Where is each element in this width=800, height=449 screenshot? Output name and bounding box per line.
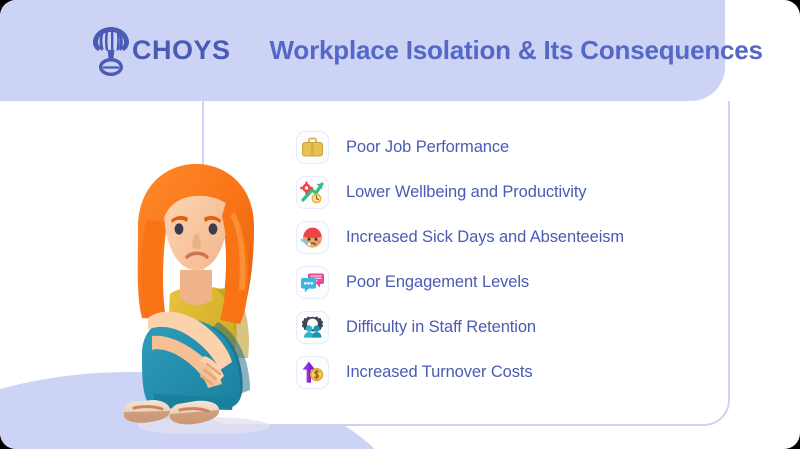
- briefcase-icon: [296, 131, 329, 164]
- list-item-label: Poor Job Performance: [346, 138, 509, 157]
- sad-person-sitting-illustration: [108, 158, 280, 434]
- list-item-label: Difficulty in Staff Retention: [346, 318, 536, 337]
- whisk-icon: [88, 25, 134, 77]
- team-gear-icon: [296, 311, 329, 344]
- list-item-label: Lower Wellbeing and Productivity: [346, 183, 586, 202]
- brand-name: CHOYS: [132, 35, 231, 66]
- list-item-label: Increased Turnover Costs: [346, 363, 533, 382]
- list-item: Poor Engagement Levels: [296, 260, 624, 305]
- list-item: Poor Job Performance: [296, 125, 624, 170]
- chat-bubbles-icon: [296, 266, 329, 299]
- list-item-label: Increased Sick Days and Absenteeism: [346, 228, 624, 247]
- infographic-page: CHOYS Workplace Isolation & Its Conseque…: [0, 0, 800, 449]
- declining-growth-icon: [296, 176, 329, 209]
- brand-logo[interactable]: CHOYS: [88, 25, 231, 77]
- rising-cost-icon: [296, 356, 329, 389]
- consequences-list: Poor Job Performance: [296, 125, 624, 395]
- sick-face-icon: [296, 221, 329, 254]
- list-item: Lower Wellbeing and Productivity: [296, 170, 624, 215]
- list-item: Increased Sick Days and Absenteeism: [296, 215, 624, 260]
- list-item: Difficulty in Staff Retention: [296, 305, 624, 350]
- list-item-label: Poor Engagement Levels: [346, 273, 529, 292]
- list-item: Increased Turnover Costs: [296, 350, 624, 395]
- page-title: Workplace Isolation & Its Consequences: [270, 35, 763, 66]
- header-bar: CHOYS Workplace Isolation & Its Conseque…: [0, 0, 725, 101]
